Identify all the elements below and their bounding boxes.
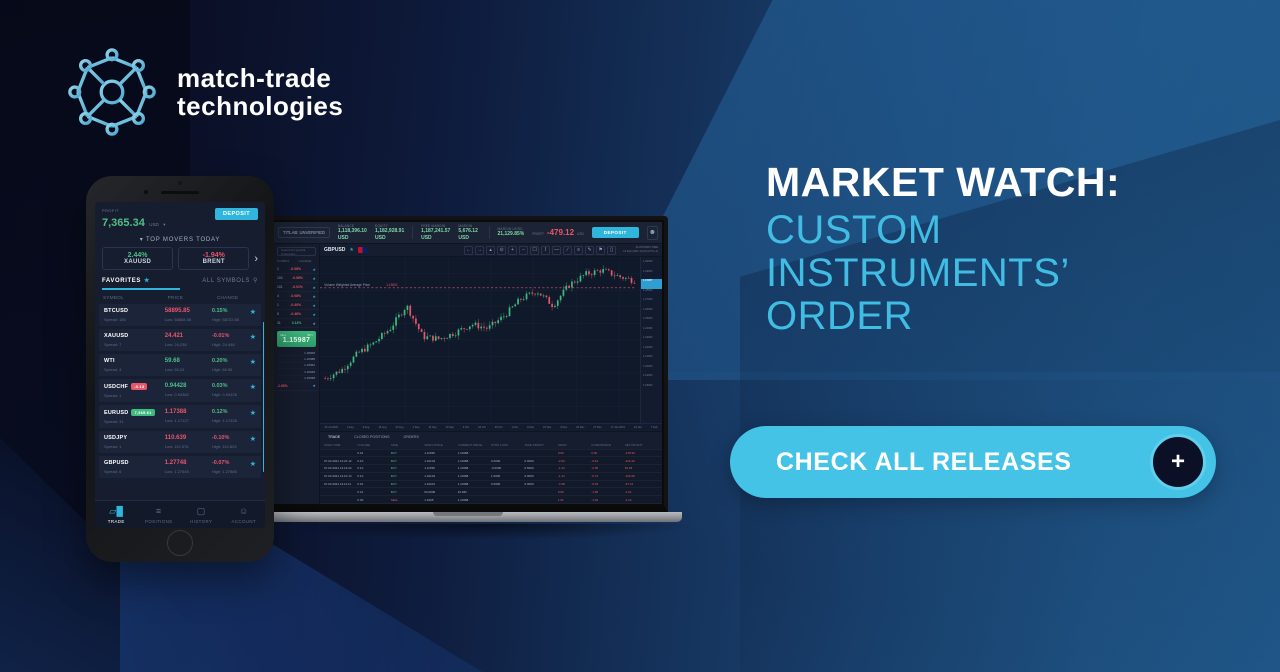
- check-all-releases-button[interactable]: CHECK ALL RELEASES +: [730, 426, 1216, 498]
- cell-open-price: 1.11535: [424, 466, 457, 470]
- cell-open-time: 07.02.2021 14:21:12: [324, 459, 357, 463]
- watchlist-change: -0.08%: [290, 294, 301, 298]
- profit-value: 7,365.34: [102, 217, 145, 229]
- profit-currency: USD: [149, 222, 159, 227]
- zoom-out-icon[interactable]: −: [519, 246, 528, 255]
- eraser-icon[interactable]: ▯: [607, 246, 616, 255]
- list-item-change: 0.12%: [212, 409, 250, 415]
- x-tick: 17 Jan 2021: [611, 426, 625, 429]
- cell-take-profit: 0.0000: [524, 474, 557, 478]
- list-item[interactable]: GBPUSDSpread: 61.27748Low: 1.27645-0.07%…: [99, 456, 261, 478]
- laptop-base: [254, 512, 682, 522]
- cell-open-time: 07.02.2021 14:11:11: [324, 482, 357, 486]
- cell-stop-loss: -0.0000: [491, 466, 524, 470]
- stat-free-margin: FREE MARGIN 1,187,241.57 USD: [421, 224, 450, 241]
- watchlist-change: -0.06%: [292, 276, 303, 280]
- x-tick: 9 Aug: [363, 426, 370, 429]
- star-icon: ★: [144, 277, 150, 284]
- candlestick-chart[interactable]: Volume Weighted Average Price 1.15921 1.…: [320, 257, 662, 423]
- star-icon[interactable]: ★: [250, 409, 256, 417]
- flag-icon[interactable]: ⚑: [596, 246, 605, 255]
- table-body: 0.01BUY1.115351.119880.000.00-178.3207.0…: [320, 450, 662, 504]
- cell-stop-loss: 0.0000: [491, 482, 524, 486]
- x-tick: 16 Aug: [378, 426, 386, 429]
- watchlist-footer-row[interactable]: -1.65% ★: [274, 382, 319, 391]
- stat-balance: BALANCE 1,118,396.10 USD: [338, 224, 367, 241]
- tab-orders[interactable]: ORDERS: [404, 435, 419, 439]
- list-item-price: 0.94428: [165, 383, 212, 389]
- divider: [489, 226, 490, 239]
- cell-net-profit: -1.01: [625, 490, 658, 494]
- chevron-right-icon[interactable]: ›: [254, 253, 258, 265]
- cell-take-profit: [524, 498, 557, 502]
- svg-text:1.15921: 1.15921: [386, 283, 398, 287]
- y-tick: 1.27000: [641, 298, 662, 308]
- list-item-spread: Spread: 7: [104, 342, 165, 347]
- list-item-change: 0.20%: [212, 358, 250, 364]
- brand-name-line2: technologies: [177, 92, 343, 120]
- watchlist-row[interactable]: 4 -0.08% ★: [274, 292, 319, 301]
- watchlist-change: -0.01%: [292, 285, 303, 289]
- mover-card[interactable]: 2.44% XAUUSD: [102, 247, 173, 270]
- trading-app-mobile: PROFIT 7,365.34 USD ▾ DEPOSIT ▾ TOP MOVE…: [95, 202, 265, 528]
- list-item-low: Low: 59.24: [165, 367, 212, 372]
- col-change: CHANGE: [299, 259, 312, 263]
- cell-volume: 0.21: [357, 490, 390, 494]
- svg-text:Volume Weighted Average Price: Volume Weighted Average Price: [324, 283, 370, 287]
- nav-label-account: ACCOUNT: [231, 519, 256, 524]
- x-tick: 8 Nov: [527, 426, 534, 429]
- list-item-high: High: 58722.85: [212, 317, 250, 322]
- cell-volume: 0.10: [357, 459, 390, 463]
- watchlist-symbol: 4: [277, 294, 279, 298]
- cell-take-profit: 0.0000: [524, 459, 557, 463]
- list-item-high: High: 110.823: [212, 444, 250, 449]
- cell-open-time: 07.02.2021 14:12:22: [324, 466, 357, 470]
- positions-tabs: TRADE CLOSED POSITIONS ORDERS: [320, 431, 662, 442]
- list-item-price: 110.639: [165, 435, 212, 441]
- watchlist-change: -0.46%: [290, 312, 301, 316]
- watchlist-change: 0.12%: [292, 321, 302, 325]
- list-icon: ≡: [138, 504, 181, 518]
- th-commission: COMMISSION: [591, 443, 624, 447]
- proximity-sensor-icon: [178, 181, 182, 185]
- zoom-in-icon[interactable]: +: [508, 246, 517, 255]
- stat-margin-level-value: 21,129.85%: [498, 231, 525, 237]
- th-current-price: CURRENT PRICE: [458, 443, 491, 447]
- list-item-low: Low: 1.27645: [165, 469, 212, 474]
- list-item[interactable]: BTCUSDSpread: 18058895.85Low: 56808.560.…: [99, 304, 261, 326]
- y-tick: 1.21000: [641, 355, 662, 365]
- mover-symbol: XAUUSD: [105, 259, 170, 265]
- cell-side: BUY: [391, 474, 424, 478]
- cell-side: BUY: [391, 451, 424, 455]
- cell-commission: -1.95: [591, 490, 624, 494]
- sidebar-item-positions[interactable]: ≡ POSITIONS: [138, 504, 181, 525]
- divider: [412, 226, 413, 239]
- stat-free-margin-value: 1,187,241.57 USD: [421, 228, 450, 241]
- watchlist-symbol: 31: [277, 321, 281, 325]
- tab-favorites-label: FAVORITES: [102, 278, 141, 284]
- chart-panel: GBPUSD ★ ← → ▴ ⊙ + − ☐ I: [320, 244, 662, 504]
- cell-side: SELL: [391, 498, 424, 502]
- mover-card[interactable]: -1.94% BRENT: [178, 247, 249, 270]
- watchlist-row[interactable]: 100 -0.06% ★: [274, 274, 319, 283]
- cell-net-profit: -1.12: [625, 498, 658, 502]
- user-icon[interactable]: ☻: [647, 226, 658, 240]
- top-movers-label[interactable]: ▾ TOP MOVERS TODAY: [95, 234, 265, 247]
- col-change: CHANGE: [217, 295, 257, 300]
- sidebar-item-account[interactable]: ☺ ACCOUNT: [223, 504, 266, 525]
- list-item-change: -0.10%: [212, 435, 250, 441]
- chevron-down-icon: ▾: [140, 237, 144, 243]
- cell-volume: 0.30: [357, 498, 390, 502]
- trading-platform-desktop: TITLAB: UNVERIFIED BALANCE 1,118,396.10 …: [274, 222, 662, 504]
- hero-copy: MARKET WATCH: CUSTOM INSTRUMENTS’ ORDER: [766, 162, 1236, 339]
- star-icon[interactable]: ★: [250, 435, 256, 443]
- chart-x-axis: 26 Jul 2020 2 Aug 9 Aug 16 Aug 23 Aug 4 …: [320, 423, 662, 431]
- page-title: MARKET WATCH:: [766, 162, 1236, 203]
- bottom-navigation: ▱█ TRADE ≡ POSITIONS ▢ HISTORY ☺ ACCOUNT: [95, 500, 265, 528]
- cell-commission: 0.00: [591, 451, 624, 455]
- plus-icon[interactable]: +: [1150, 434, 1206, 490]
- x-tick: 18 Oct: [478, 426, 486, 429]
- list-item-price: 59.68: [165, 358, 212, 364]
- x-tick: 4 Sep: [413, 426, 420, 429]
- x-tick: 24 Jan: [634, 426, 642, 429]
- cell-swap: 0.00: [558, 490, 591, 494]
- star-icon[interactable]: ★: [250, 383, 256, 391]
- cell-stop-loss: [491, 498, 524, 502]
- list-item-spread: Spread: 6: [104, 469, 165, 474]
- list-item-spread: Spread: 180: [104, 317, 165, 322]
- y-tick: 1.29000: [641, 270, 662, 280]
- cell-swap: -1.14: [558, 474, 591, 478]
- hero-subtitle-line3: ORDER: [766, 295, 1236, 338]
- table-row[interactable]: 07.02.2021 14:12:220.10BUY1.115351.11988…: [320, 465, 662, 473]
- list-item[interactable]: WTISpread: 459.68Low: 59.240.20%High: 60…: [99, 354, 261, 376]
- symbol-tabs: FAVORITES ★ ALL SYMBOLS ⚲: [95, 270, 265, 284]
- fullscreen-icon[interactable]: ☐: [530, 246, 539, 255]
- list-item-change: 0.03%: [212, 383, 250, 389]
- chart-toolbar: GBPUSD ★ ← → ▴ ⊙ + − ☐ I: [320, 244, 662, 257]
- cell-open-price: 1.10201: [424, 482, 457, 486]
- cell-side: BUY: [391, 466, 424, 470]
- nav-label-history: HISTORY: [190, 519, 212, 524]
- stat-balance-value: 1,118,396.10 USD: [338, 228, 367, 241]
- chart-bars-icon: ▱█: [95, 504, 138, 518]
- watchlist-row[interactable]: 1 -0.08% ★: [274, 265, 319, 274]
- x-tick: 7 Feb: [651, 426, 658, 429]
- list-item-spread: Spread: 4: [104, 367, 165, 372]
- th-open-time: OPEN TIME: [324, 443, 357, 447]
- list-item-symbol: GBPUSD: [104, 460, 165, 466]
- star-icon[interactable]: ★: [250, 358, 256, 366]
- cell-open-time: 07.02.2021 14:10:14: [324, 474, 357, 478]
- cell-open-price: 1.10104: [424, 474, 457, 478]
- mover-change: -1.94%: [181, 252, 246, 259]
- magnet-icon[interactable]: ⊙: [497, 246, 506, 255]
- price-box-labels: SELL BUY: [280, 334, 313, 337]
- background-facet-bottom-right: [580, 372, 1280, 672]
- scrollbar[interactable]: [263, 322, 265, 472]
- cell-side: BUY: [391, 482, 424, 486]
- cell-commission: -0.03: [591, 482, 624, 486]
- list-item-high: High: 1.27885: [212, 469, 250, 474]
- laptop-screen: TITLAB: UNVERIFIED BALANCE 1,118,396.10 …: [268, 216, 668, 512]
- cell-open-price: 1.11535: [424, 451, 457, 455]
- cell-net-profit: -114.40: [625, 459, 658, 463]
- list-item[interactable]: EURUSD7,365.61Spread: 311.17388Low: 1.17…: [99, 405, 261, 428]
- cell-stop-loss: 0.0000: [491, 459, 524, 463]
- undo-icon[interactable]: ←: [464, 246, 473, 255]
- list-item-spread: Spread: 1: [104, 444, 165, 449]
- list-item-symbol: BTCUSD: [104, 308, 165, 314]
- deposit-button[interactable]: DEPOSIT: [215, 208, 258, 220]
- account-selector[interactable]: TITLAB: UNVERIFIED: [278, 227, 330, 238]
- watchlist-row[interactable]: 1 -0.40% ★: [274, 301, 319, 310]
- y-tick: 1.20000: [641, 365, 662, 375]
- network-node-snowflake-icon: [63, 43, 161, 141]
- y-tick: 1.28000: [641, 289, 662, 299]
- uk-us-flag-icon: [358, 247, 367, 253]
- platform-time: PLATFORM TIME 11 Feb 2021 14:20 (UTC+1): [623, 246, 658, 253]
- list-item-change: 0.15%: [212, 308, 250, 314]
- quick-trade-price-box[interactable]: SELL BUY 1.15987: [277, 331, 316, 347]
- deposit-button[interactable]: DEPOSIT: [592, 227, 639, 238]
- y-tick: 1.30000: [641, 260, 662, 270]
- chart-canvas: Volume Weighted Average Price 1.15921: [320, 257, 662, 423]
- x-tick: 4 Oct: [463, 426, 469, 429]
- stat-equity-value: 1,182,928.91 USD: [375, 228, 404, 241]
- x-tick: 6 Dec: [560, 426, 567, 429]
- list-item[interactable]: USDJPYSpread: 1110.639Low: 110.576-0.10%…: [99, 431, 261, 453]
- tab-all-symbols-label: ALL SYMBOLS: [202, 278, 250, 284]
- chevron-down-icon[interactable]: ▾: [163, 222, 165, 227]
- list-item-symbol: USDCHF-9.13: [104, 383, 165, 390]
- table-row[interactable]: 07.02.2021 14:11:110.01BUY1.102011.11988…: [320, 481, 662, 489]
- cell-commission: -0.44: [591, 459, 624, 463]
- th-stop-loss: STOP LOSS: [491, 443, 524, 447]
- watchlist-row[interactable]: 101 -0.01% ★: [274, 283, 319, 292]
- search-icon: ⚲: [253, 277, 258, 284]
- cell-current-price: 1.11988: [458, 498, 491, 502]
- cell-current-price: 1.11988: [458, 459, 491, 463]
- cell-stop-loss: [491, 490, 524, 494]
- user-icon: ☺: [223, 504, 266, 518]
- cell-swap: -7.08: [558, 482, 591, 486]
- list-item-low: Low: 24.238: [165, 342, 212, 347]
- fib-icon[interactable]: ≡: [574, 246, 583, 255]
- watchlist-symbol: 1: [277, 267, 279, 271]
- y-tick: 1.25000: [641, 317, 662, 327]
- list-item[interactable]: XAUUSDSpread: 724.421Low: 24.238-0.01%Hi…: [99, 329, 261, 351]
- platform-body: Search for symbol, instrument... SYMBOL …: [274, 244, 662, 504]
- cta-label: CHECK ALL RELEASES: [776, 448, 1150, 477]
- text-icon[interactable]: I: [541, 246, 550, 255]
- cell-current-price: 1.11988: [458, 451, 491, 455]
- chart-symbol: GBPUSD: [324, 247, 345, 253]
- buy-label: BUY: [308, 334, 313, 337]
- nav-label-positions: POSITIONS: [145, 519, 173, 524]
- tab-trade[interactable]: TRADE: [328, 435, 340, 439]
- app-header: PROFIT 7,365.34 USD ▾ DEPOSIT: [95, 202, 265, 234]
- current-price-tag: 1.15987: [641, 279, 662, 289]
- cell-net-profit: -119.30: [625, 474, 658, 478]
- x-tick: 15 Nov: [543, 426, 551, 429]
- brand-name: match-trade technologies: [177, 64, 343, 120]
- hero-subtitle-line1: CUSTOM: [766, 209, 1236, 252]
- brush-icon[interactable]: ✎: [585, 246, 594, 255]
- watchlist-symbol: 100: [277, 276, 283, 280]
- star-icon[interactable]: ★: [312, 312, 316, 317]
- x-tick: 25 Oct: [495, 426, 503, 429]
- star-icon[interactable]: ★: [312, 294, 316, 299]
- profit-loss-label: PROFIT: [532, 232, 544, 236]
- list-item-low: Low: 0.94382: [165, 392, 212, 397]
- cell-swap: 0.00: [558, 451, 591, 455]
- hero-subtitle-line2: INSTRUMENTS’: [766, 252, 1236, 295]
- th-swap: SWAP: [558, 443, 591, 447]
- x-tick: 2 Aug: [347, 426, 354, 429]
- table-row[interactable]: 07.02.2021 14:21:120.10BUY1.101041.11988…: [320, 457, 662, 465]
- table-row[interactable]: 07.02.2021 14:10:140.10BUY1.101041.11988…: [320, 473, 662, 481]
- cell-open-time: [324, 498, 357, 502]
- symbol-list[interactable]: BTCUSDSpread: 18058895.85Low: 56808.560.…: [95, 304, 265, 500]
- watchlist-row[interactable]: 5 -0.46% ★: [274, 310, 319, 319]
- cell-current-price: 1.11988: [458, 474, 491, 478]
- mover-change: 2.44%: [105, 252, 170, 259]
- cell-current-price: 1.11988: [458, 466, 491, 470]
- cell-take-profit: [524, 490, 557, 494]
- profit-block: PROFIT 7,365.34 USD ▾: [102, 208, 166, 231]
- star-icon[interactable]: ★: [312, 276, 316, 281]
- list-item-price: 1.27748: [165, 460, 212, 466]
- watchlist-change: -0.08%: [290, 267, 301, 271]
- star-icon[interactable]: ★: [250, 308, 256, 316]
- y-tick: 1.26000: [641, 308, 662, 318]
- brand-logo[interactable]: match-trade technologies: [63, 43, 343, 141]
- watchlist-symbol: 1: [277, 303, 279, 307]
- col-symbol: SYMBOL: [103, 295, 168, 300]
- table-row[interactable]: 0.21BUY94.000894.2820.00-1.95-1.01: [320, 488, 662, 496]
- watchlist-row-selected[interactable]: 31 0.12% ★: [274, 319, 319, 328]
- home-button[interactable]: [167, 530, 193, 556]
- cell-volume: 0.10: [357, 466, 390, 470]
- star-icon[interactable]: ★: [312, 285, 316, 290]
- cell-take-profit: [524, 451, 557, 455]
- cell-net-profit: -178.32: [625, 451, 658, 455]
- profit-loss-currency: USD: [577, 232, 584, 236]
- top-movers-list: 2.44% XAUUSD -1.94% BRENT ›: [95, 247, 265, 270]
- stat-equity: EQUITY 1,182,928.91 USD: [375, 224, 404, 241]
- star-icon[interactable]: ★: [250, 460, 256, 468]
- cursor-icon[interactable]: ▴: [486, 246, 495, 255]
- table-row[interactable]: 0.30SELL1.19051.119881.01-1.02-1.12: [320, 496, 662, 504]
- cell-open-price: 1.1905: [424, 498, 457, 502]
- watchlist-symbol: 5: [277, 312, 279, 316]
- list-item[interactable]: USDCHF-9.13Spread: 10.94428Low: 0.943820…: [99, 379, 261, 402]
- trend-line-icon[interactable]: ∕: [563, 246, 572, 255]
- chart-y-axis: 1.30000 1.29000 1.15987 1.28000 1.27000 …: [640, 257, 662, 423]
- top-movers-text: TOP MOVERS TODAY: [146, 237, 220, 243]
- nav-label-trade: TRADE: [108, 519, 125, 524]
- th-take-profit: TAKE PROFIT: [524, 443, 557, 447]
- y-tick: 1.23000: [641, 336, 662, 346]
- stat-margin: MARGIN 5,676.12 USD: [458, 224, 480, 241]
- col-price: PRICE: [168, 295, 217, 300]
- tab-favorites[interactable]: FAVORITES ★: [102, 277, 150, 284]
- th-net-profit: NET PROFIT: [625, 443, 658, 447]
- th-volume: VOLUME: [357, 443, 390, 447]
- cell-net-profit: -67.12: [625, 482, 658, 486]
- sidebar-item-history[interactable]: ▢ HISTORY: [180, 504, 223, 525]
- cell-open-time: [324, 451, 357, 455]
- star-icon[interactable]: ★: [250, 333, 256, 341]
- horizontal-line-icon[interactable]: —: [552, 246, 561, 255]
- th-open-price: OPEN PRICE: [424, 443, 457, 447]
- list-item-price: 24.421: [165, 333, 212, 339]
- phone-mockup: PROFIT 7,365.34 USD ▾ DEPOSIT ▾ TOP MOVE…: [86, 176, 274, 562]
- tab-closed-positions[interactable]: CLOSED POSITIONS: [354, 435, 389, 439]
- laptop-mockup: TITLAB: UNVERIFIED BALANCE 1,118,396.10 …: [268, 216, 668, 522]
- cell-open-time: [324, 490, 357, 494]
- x-tick: 27 Dec: [593, 426, 601, 429]
- y-tick: 1.22000: [641, 346, 662, 356]
- sell-label: SELL: [280, 334, 286, 337]
- th-side: SIDE: [391, 443, 424, 447]
- status-badge: -9.13: [131, 383, 147, 390]
- cell-volume: 0.10: [357, 474, 390, 478]
- list-item-high: High: 1.17428: [212, 418, 250, 423]
- list-item-symbol: XAUUSD: [104, 333, 165, 339]
- cell-stop-loss: [491, 451, 524, 455]
- cell-side: BUY: [391, 459, 424, 463]
- stat-margin-value: 5,676.12 USD: [458, 228, 480, 241]
- star-icon[interactable]: ★: [312, 321, 316, 326]
- list-item-spread: Spread: 1: [104, 393, 165, 398]
- star-icon[interactable]: ★: [312, 303, 316, 308]
- cell-volume: 0.01: [357, 451, 390, 455]
- x-tick: 1 Nov: [511, 426, 518, 429]
- cell-current-price: 94.282: [458, 490, 491, 494]
- list-item-high: High: 0.94428: [212, 392, 250, 397]
- list-item-spread: Spread: 31: [104, 419, 165, 424]
- star-icon[interactable]: ★: [312, 267, 316, 272]
- front-camera-icon: [144, 190, 148, 194]
- y-tick: 1.18000: [641, 384, 662, 394]
- y-tick: 1.19000: [641, 374, 662, 384]
- tab-all-symbols[interactable]: ALL SYMBOLS ⚲: [202, 277, 258, 284]
- marketing-banner: match-trade technologies MARKET WATCH: C…: [0, 0, 1280, 672]
- list-item-price: 1.17388: [165, 409, 212, 415]
- redo-icon[interactable]: →: [475, 246, 484, 255]
- star-icon[interactable]: ★: [312, 383, 316, 388]
- search-input[interactable]: Search for symbol, instrument...: [277, 247, 316, 256]
- sidebar-item-trade[interactable]: ▱█ TRADE: [95, 504, 138, 525]
- cell-open-price: 1.10104: [424, 459, 457, 463]
- star-icon[interactable]: ★: [349, 247, 353, 253]
- list-item-symbol: EURUSD7,365.61: [104, 409, 165, 416]
- earpiece-speaker: [161, 191, 199, 194]
- chart-tools: ← → ▴ ⊙ + − ☐ I — ∕ ≡ ✎: [464, 246, 616, 255]
- watchlist-change: -0.40%: [290, 303, 301, 307]
- hero-subtitle: CUSTOM INSTRUMENTS’ ORDER: [766, 209, 1236, 339]
- table-row[interactable]: 0.01BUY1.115351.119880.000.00-178.32: [320, 450, 662, 458]
- platform-topbar: TITLAB: UNVERIFIED BALANCE 1,118,396.10 …: [274, 222, 662, 244]
- list-item-low: Low: 1.17127: [165, 418, 212, 423]
- x-tick: 20 Sep: [446, 426, 454, 429]
